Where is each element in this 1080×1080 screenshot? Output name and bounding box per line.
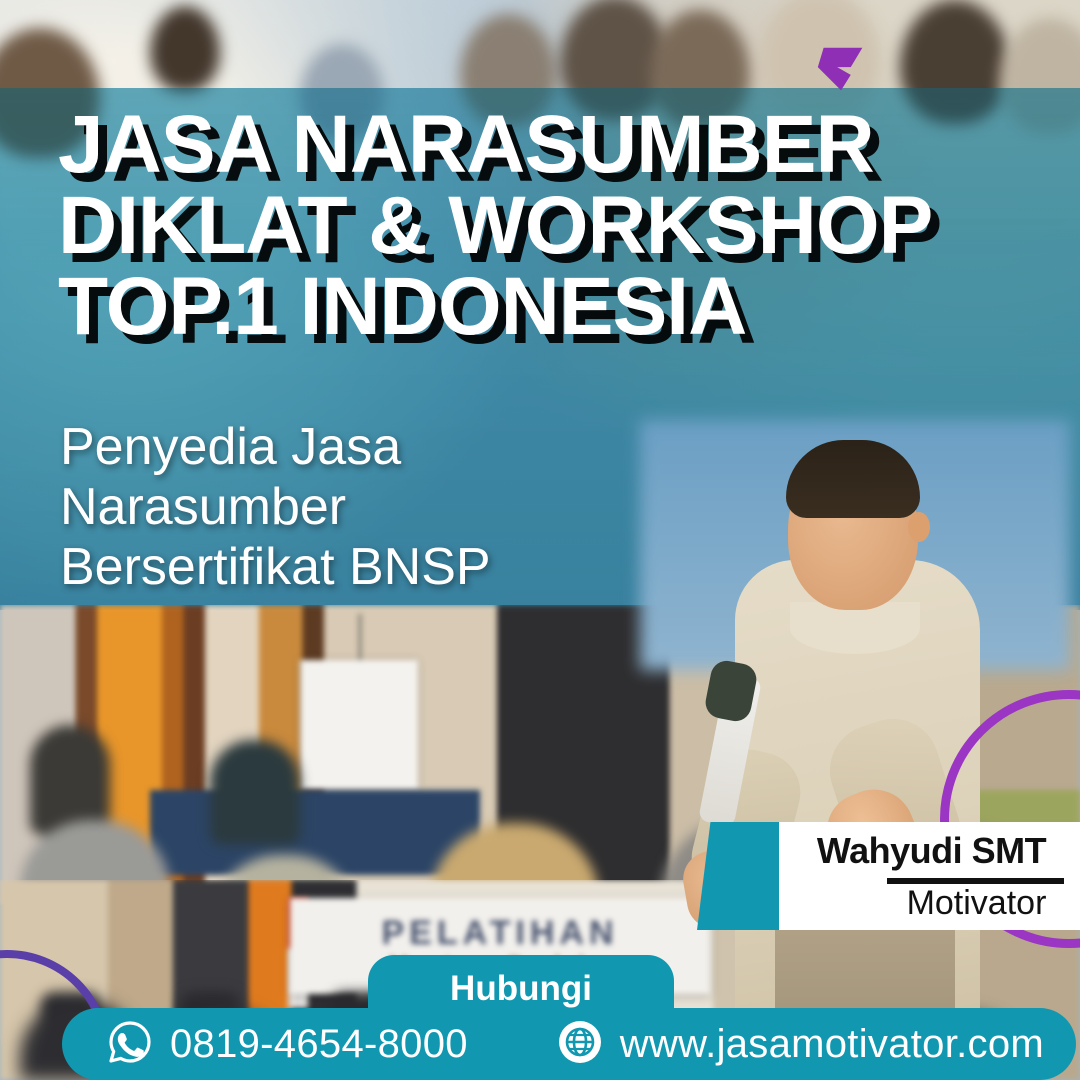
page-title: JASA NARASUMBER DIKLAT & WORKSHOP TOP.1 … xyxy=(58,104,1018,348)
speaker-ear xyxy=(908,512,930,542)
speaker-name: Wahyudi SMT xyxy=(797,830,1066,872)
whatsapp-icon xyxy=(106,1018,154,1071)
headline-line-2: DIKLAT & WORKSHOP xyxy=(58,185,1018,266)
subtitle-line-2: Narasumber xyxy=(60,478,760,538)
whatsapp-contact[interactable]: 0819-4654-8000 xyxy=(106,1018,468,1071)
phone-number: 0819-4654-8000 xyxy=(170,1022,468,1067)
headline-line-1: JASA NARASUMBER xyxy=(58,104,1018,185)
website-contact[interactable]: www.jasamotivator.com xyxy=(556,1018,1044,1071)
wing-logo-icon xyxy=(812,38,874,100)
speaker-role: Motivator xyxy=(887,884,1066,923)
subtitle-line-1: Penyedia Jasa xyxy=(60,418,760,478)
contact-bar: 0819-4654-8000 www.jasamotivator.com xyxy=(62,1008,1076,1080)
poster-canvas: PELATIHAN Manajemen Perubahan xyxy=(0,0,1080,1080)
subtitle: Penyedia Jasa Narasumber Bersertifikat B… xyxy=(60,418,760,597)
website-url: www.jasamotivator.com xyxy=(620,1022,1044,1067)
subtitle-line-3: Bersertifikat BNSP xyxy=(60,538,760,598)
flipchart xyxy=(300,660,418,790)
globe-icon xyxy=(556,1018,604,1071)
name-badge: Wahyudi SMT Motivator xyxy=(697,822,1080,930)
headline-line-3: TOP.1 INDONESIA xyxy=(58,266,1018,347)
contact-tab-label: Hubungi xyxy=(368,969,674,1009)
